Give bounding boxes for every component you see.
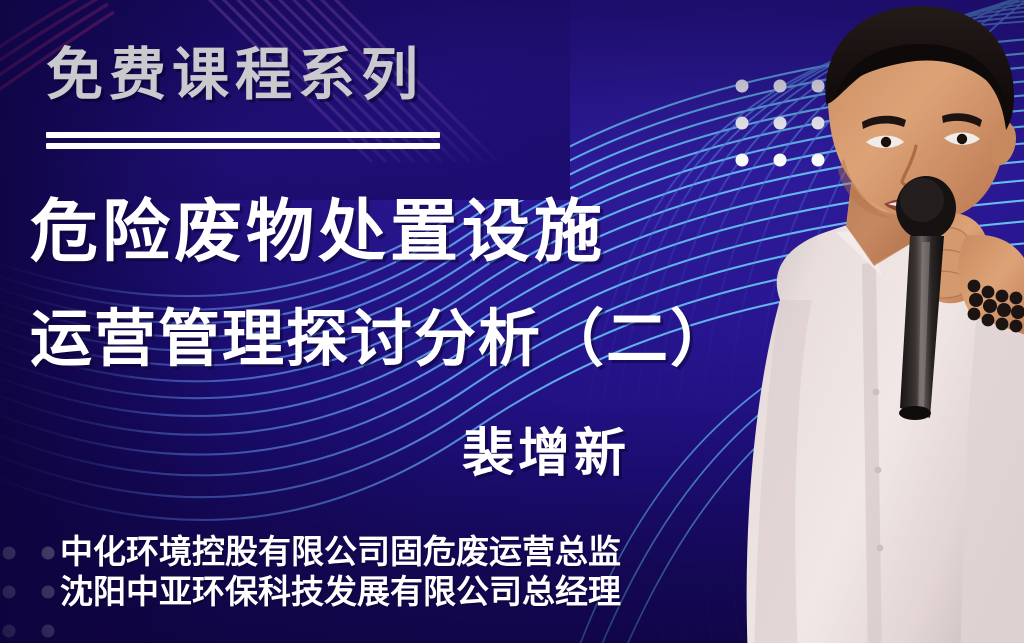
credential-line-1: 中化环境控股有限公司固危废运营总监 bbox=[60, 532, 621, 572]
rule-bottom bbox=[46, 143, 440, 149]
speaker-name: 裴增新 bbox=[462, 428, 630, 480]
course-poster: 免费课程系列 危险废物处置设施 运营管理探讨分析（二） 裴增新 中化环境控股有限… bbox=[0, 0, 1024, 643]
credentials-block: 中化环境控股有限公司固危废运营总监 沈阳中亚环保科技发展有限公司总经理 bbox=[60, 532, 621, 612]
title-line-1: 危险废物处置设施 bbox=[30, 198, 606, 266]
title-line-2: 运营管理探讨分析（二） bbox=[30, 308, 734, 370]
rule-top bbox=[46, 132, 440, 138]
kicker-text: 免费课程系列 bbox=[46, 46, 424, 103]
double-rule-divider bbox=[46, 132, 440, 149]
credential-line-2: 沈阳中亚环保科技发展有限公司总经理 bbox=[60, 572, 621, 612]
